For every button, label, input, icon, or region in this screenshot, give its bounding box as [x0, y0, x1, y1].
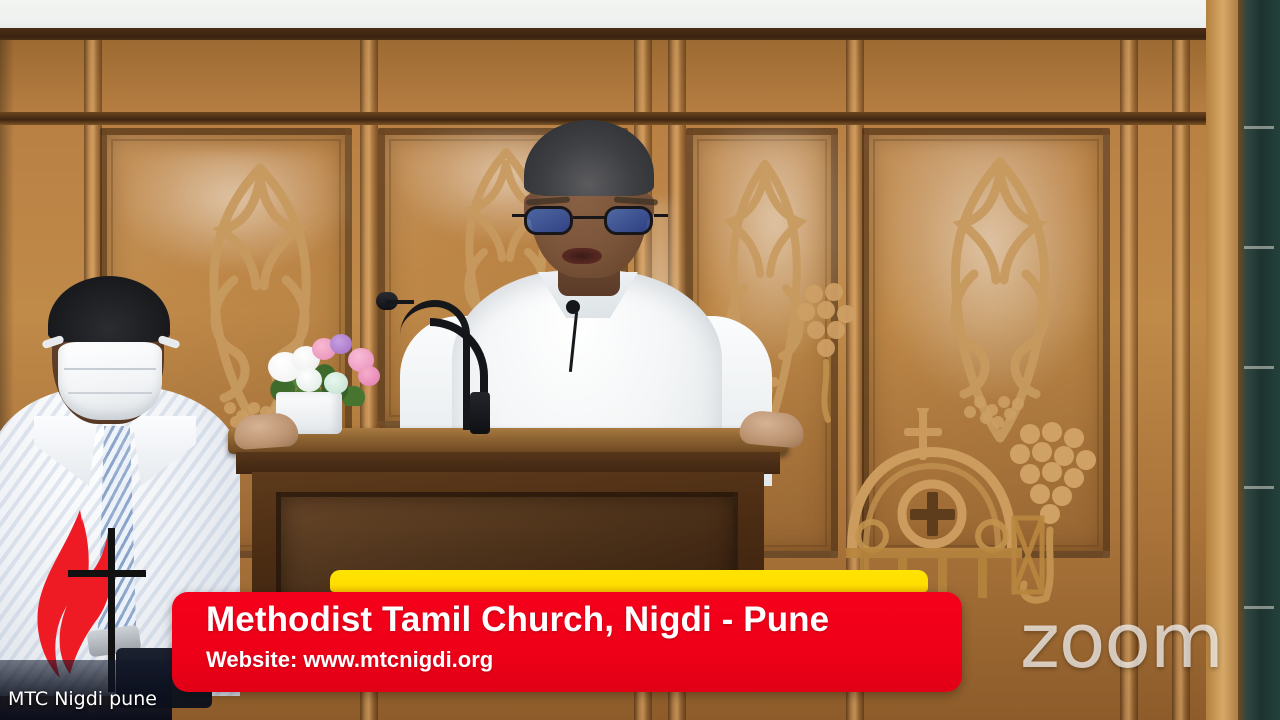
flower-bloom [324, 372, 348, 394]
zoom-watermark-icon: zoom [1020, 596, 1223, 685]
banner-website: Website: www.mtcnigdi.org [206, 647, 493, 673]
stream-source-label: MTC Nigdi pune [8, 688, 157, 710]
microphone-base [470, 392, 490, 434]
video-stream-frame: zoom Methodist Tamil Church, Nigdi - Pun… [0, 0, 1280, 720]
face-mask [58, 342, 162, 420]
banner-title: Methodist Tamil Church, Nigdi - Pune [206, 600, 829, 640]
lower-third-yellow-accent [330, 570, 928, 592]
wood-panel [862, 128, 1110, 558]
eyeglasses [522, 204, 658, 238]
flower-bloom [330, 334, 352, 354]
flower-bloom [358, 366, 380, 386]
dark-window-frame [1238, 0, 1280, 720]
lower-third-banner: Methodist Tamil Church, Nigdi - Pune Web… [172, 592, 962, 692]
flower-bloom [296, 368, 322, 392]
